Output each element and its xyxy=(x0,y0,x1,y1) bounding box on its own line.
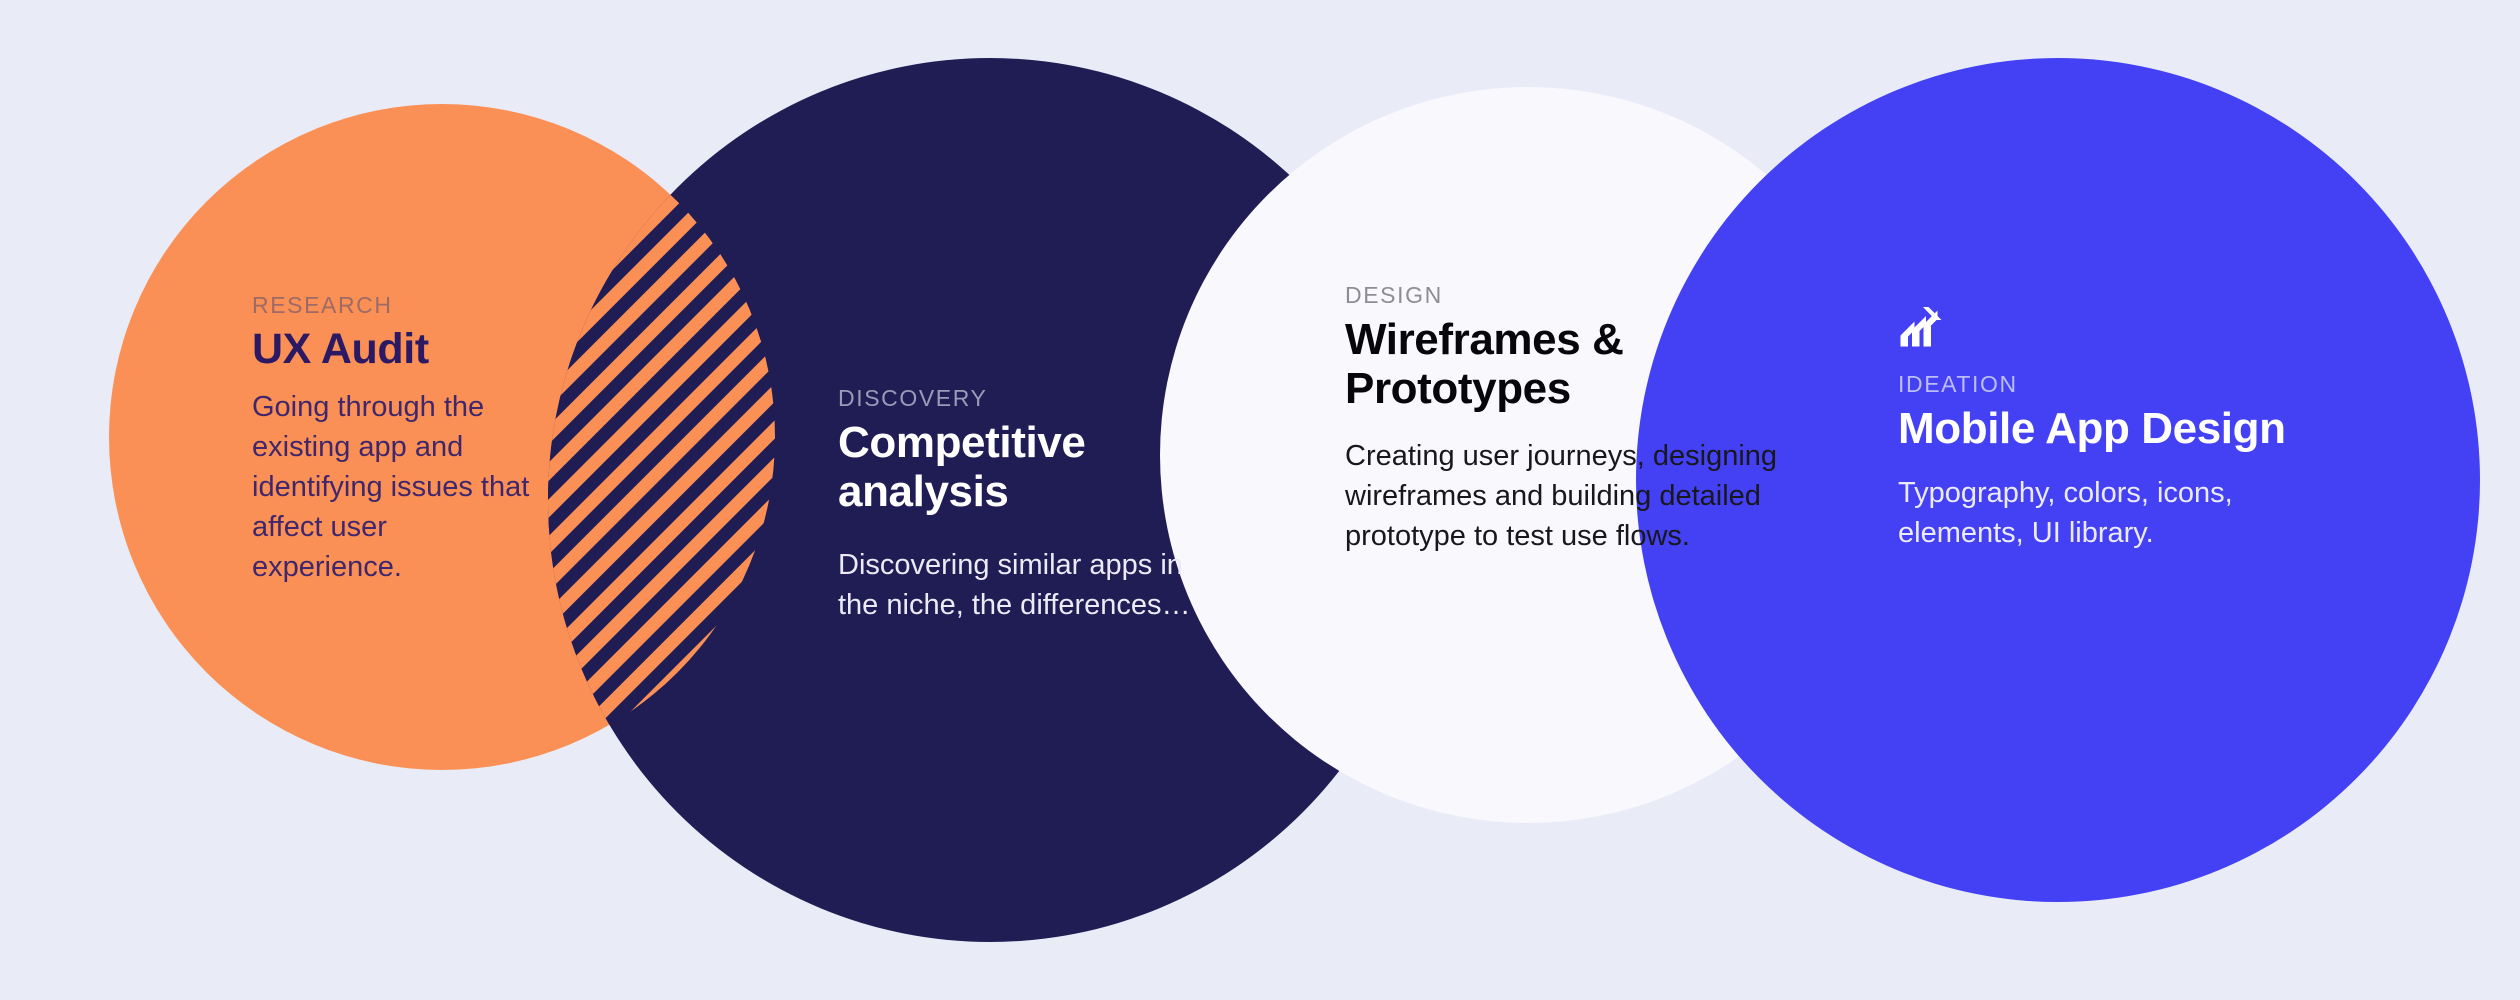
card-discovery-eyebrow: DISCOVERY xyxy=(838,385,1208,412)
card-ideation-title: Mobile App Design xyxy=(1898,404,2298,453)
card-design: DESIGN Wireframes & Prototypes Creating … xyxy=(1345,282,1795,556)
card-research-title: UX Audit xyxy=(252,325,542,373)
card-discovery-title: Competitive analysis xyxy=(838,418,1208,517)
diagram-canvas: RESEARCH UX Audit Going through the exis… xyxy=(0,0,2520,1000)
card-design-eyebrow: DESIGN xyxy=(1345,282,1795,309)
card-research-eyebrow: RESEARCH xyxy=(252,292,542,319)
card-discovery: DISCOVERY Competitive analysis Discoveri… xyxy=(838,385,1208,625)
card-design-title: Wireframes & Prototypes xyxy=(1345,315,1795,414)
brand-chevrons-icon xyxy=(1898,305,1944,349)
card-research: RESEARCH UX Audit Going through the exis… xyxy=(252,292,542,587)
card-design-body: Creating user journeys, designing wirefr… xyxy=(1345,436,1795,556)
card-ideation-body: Typography, colors, icons, elements, UI … xyxy=(1898,473,2298,553)
card-research-body: Going through the existing app and ident… xyxy=(252,387,542,587)
card-ideation-eyebrow: IDEATION xyxy=(1898,371,2298,398)
card-ideation: IDEATION Mobile App Design Typography, c… xyxy=(1898,305,2298,553)
card-discovery-body: Discovering similar apps in the niche, t… xyxy=(838,545,1208,625)
